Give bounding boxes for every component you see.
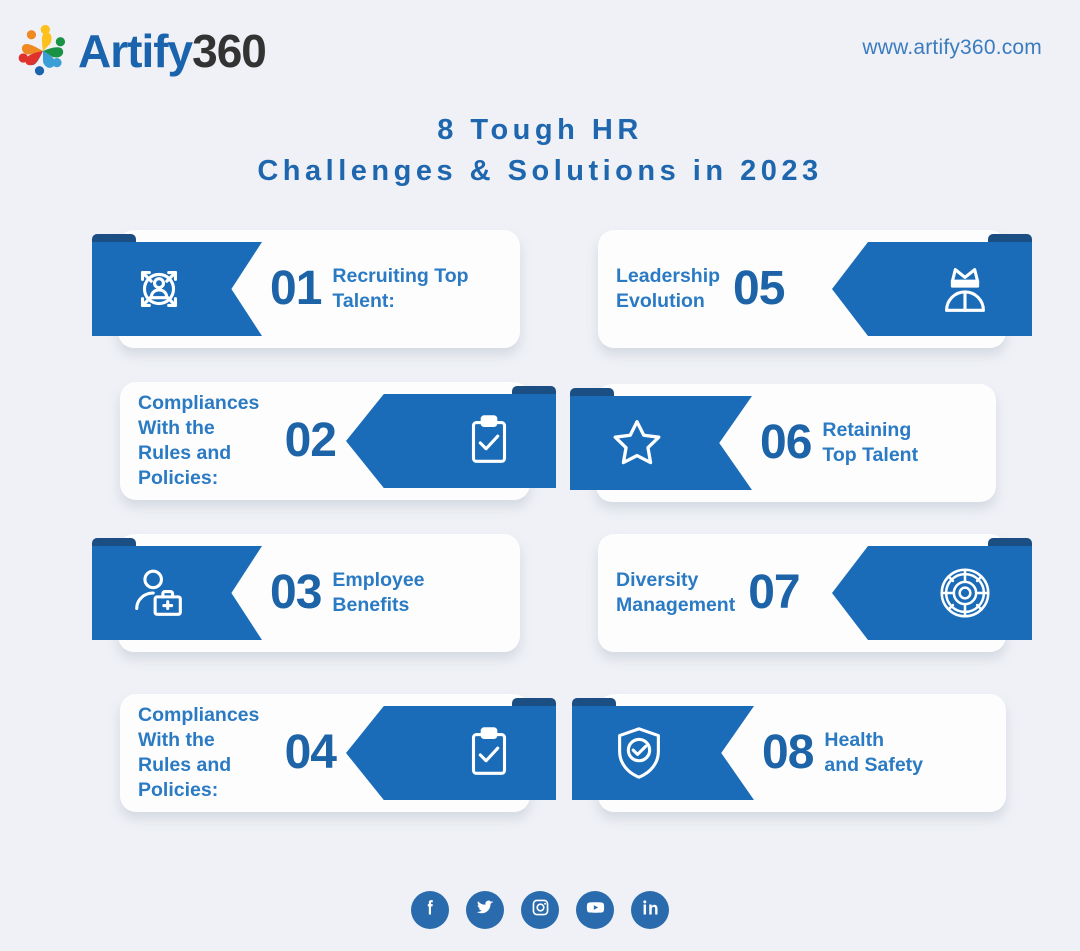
employee-benefits-icon — [128, 562, 190, 624]
challenge-label-line: Compliances — [138, 703, 272, 728]
challenge-card-03[interactable]: 03EmployeeBenefits — [118, 534, 520, 652]
challenge-label-line: Rules and Policies: — [138, 753, 272, 803]
challenge-label-line: Rules and Policies: — [138, 441, 272, 491]
challenge-label-line: Leadership — [616, 264, 720, 289]
social-links — [0, 891, 1080, 929]
challenge-number: 01 — [270, 265, 321, 313]
challenge-ribbon — [832, 242, 1032, 336]
brand-name-secondary: 360 — [192, 25, 266, 77]
social-link-youtube[interactable] — [576, 891, 614, 929]
challenge-label-line: Evolution — [616, 289, 720, 314]
challenge-number: 08 — [762, 729, 813, 777]
challenge-ribbon — [572, 706, 754, 800]
challenge-label-line: Top Talent — [822, 443, 918, 468]
challenge-label: CompliancesWith theRules and Policies: — [138, 703, 272, 803]
challenge-label-line: Talent: — [332, 289, 468, 314]
challenge-card-grid: 01Recruiting TopTalent: CompliancesWith … — [0, 222, 1080, 842]
clipboard-check-icon — [458, 722, 520, 784]
challenge-label-line: Compliances — [138, 391, 272, 416]
brand-name-primary: Artify — [78, 25, 192, 77]
youtube-icon — [585, 897, 606, 923]
social-link-linkedin[interactable] — [631, 891, 669, 929]
challenge-label: LeadershipEvolution — [616, 264, 720, 314]
challenge-card-body: CompliancesWith theRules and Policies:04 — [138, 694, 336, 812]
gear-wheel-icon — [934, 562, 996, 624]
challenge-ribbon — [832, 546, 1032, 640]
challenge-label-line: Employee — [332, 568, 424, 593]
challenge-label-line: Health — [824, 728, 923, 753]
brand-logo[interactable]: Artify360 — [14, 22, 266, 80]
challenge-label-line: and Safety — [824, 753, 923, 778]
challenge-label: Recruiting TopTalent: — [332, 264, 468, 314]
page-header: Artify360 www.artify360.com — [0, 0, 1080, 105]
shield-check-icon — [608, 722, 670, 784]
challenge-number: 06 — [760, 419, 811, 467]
challenge-ribbon — [92, 546, 262, 640]
page-title-line-1: 8 Tough HR — [0, 110, 1080, 151]
challenge-card-02[interactable]: CompliancesWith theRules and Policies:02 — [120, 382, 530, 500]
challenge-number: 02 — [285, 417, 336, 465]
challenge-ribbon — [346, 394, 556, 488]
challenge-label: Healthand Safety — [824, 728, 923, 778]
challenge-card-05[interactable]: LeadershipEvolution05 — [598, 230, 1006, 348]
linkedin-icon — [640, 897, 661, 923]
challenge-card-body: LeadershipEvolution05 — [616, 230, 822, 348]
challenge-card-body: DiversityManagement07 — [616, 534, 822, 652]
challenge-number: 04 — [285, 729, 336, 777]
challenge-label-line: Benefits — [332, 593, 424, 618]
social-link-twitter[interactable] — [466, 891, 504, 929]
challenge-label-line: With the — [138, 728, 272, 753]
challenge-card-07[interactable]: DiversityManagement07 — [598, 534, 1006, 652]
challenge-label-line: Retaining — [822, 418, 918, 443]
challenge-label: RetainingTop Talent — [822, 418, 918, 468]
recruiting-target-icon — [128, 258, 190, 320]
challenge-label-line: With the — [138, 416, 272, 441]
star-icon — [606, 412, 668, 474]
leader-crown-icon — [934, 258, 996, 320]
challenge-label-line: Recruiting Top — [332, 264, 468, 289]
challenge-card-body: 03EmployeeBenefits — [270, 534, 506, 652]
people-pinwheel-icon — [14, 22, 72, 80]
challenge-number: 07 — [748, 569, 799, 617]
challenge-ribbon — [570, 396, 752, 490]
brand-wordmark: Artify360 — [78, 28, 266, 74]
instagram-icon — [530, 897, 551, 923]
challenge-card-04[interactable]: CompliancesWith theRules and Policies:04 — [120, 694, 530, 812]
website-url[interactable]: www.artify360.com — [862, 36, 1042, 60]
challenge-label: CompliancesWith theRules and Policies: — [138, 391, 272, 491]
challenge-label: EmployeeBenefits — [332, 568, 424, 618]
page-title-line-2: Challenges & Solutions in 2023 — [0, 151, 1080, 192]
challenge-label-line: Diversity — [616, 568, 735, 593]
page-title: 8 Tough HR Challenges & Solutions in 202… — [0, 110, 1080, 192]
challenge-card-body: CompliancesWith theRules and Policies:02 — [138, 382, 336, 500]
social-link-facebook[interactable] — [411, 891, 449, 929]
challenge-ribbon — [346, 706, 556, 800]
clipboard-check-icon — [458, 410, 520, 472]
challenge-card-08[interactable]: 08Healthand Safety — [598, 694, 1006, 812]
social-link-instagram[interactable] — [521, 891, 559, 929]
facebook-icon — [420, 897, 441, 923]
twitter-icon — [475, 897, 496, 923]
challenge-card-body: 01Recruiting TopTalent: — [270, 230, 506, 348]
challenge-number: 03 — [270, 569, 321, 617]
challenge-number: 05 — [733, 265, 784, 313]
challenge-card-01[interactable]: 01Recruiting TopTalent: — [118, 230, 520, 348]
challenge-card-body: 08Healthand Safety — [762, 694, 992, 812]
challenge-card-06[interactable]: 06RetainingTop Talent — [596, 384, 996, 502]
challenge-card-body: 06RetainingTop Talent — [760, 384, 982, 502]
challenge-label-line: Management — [616, 593, 735, 618]
challenge-ribbon — [92, 242, 262, 336]
challenge-label: DiversityManagement — [616, 568, 735, 618]
